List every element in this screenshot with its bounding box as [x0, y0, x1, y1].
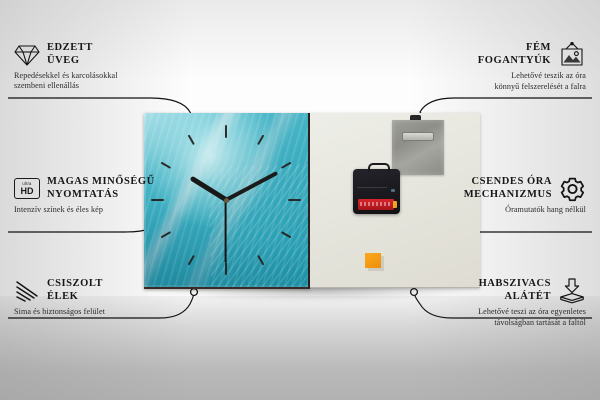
callout-tempered-glass: EDZETT ÜVEG Repedésekkel és karcolásokka…: [14, 42, 194, 92]
clock-center-cap: [224, 198, 229, 203]
quartz-movement: [353, 169, 400, 214]
metal-hanger-plate: [392, 120, 444, 175]
arrow-down-on-pad-icon: [558, 278, 586, 304]
callout-subtitle: Sima és biztonságos felület: [14, 304, 194, 318]
callout-subtitle: Óramutatók hang nélkül: [396, 202, 586, 216]
movement-label: [391, 189, 395, 192]
gear-icon: [559, 176, 586, 202]
movement-handle: [368, 163, 390, 173]
callout-header: HABSZIVACS ALÁTÉT: [391, 278, 586, 304]
callout-title: FÉM FOGANTYÚK: [478, 42, 551, 68]
callout-subtitle: Lehetővé teszi az óra egyenletes távolsá…: [391, 304, 586, 329]
callout-high-quality-print: ultra HD MAGAS MINŐSÉGŰ NYOMTATÁS Intenz…: [14, 176, 199, 215]
callout-title: HABSZIVACS ALÁTÉT: [479, 278, 551, 304]
diamond-icon: [14, 43, 40, 67]
ultra-hd-icon: ultra HD: [14, 178, 40, 199]
infographic-canvas: EDZETT ÜVEG Repedésekkel és karcolásokka…: [0, 0, 600, 400]
callout-polished-edges: CSISZOLT ÉLEK Sima és biztonságos felüle…: [14, 278, 194, 317]
clock-second-hand: [225, 200, 227, 262]
callout-metal-handles: FÉM FOGANTYÚK Lehetővé teszik az óra kön…: [396, 42, 586, 93]
foam-pad-sample: [365, 253, 381, 268]
callout-header: CSISZOLT ÉLEK: [14, 278, 194, 304]
callout-silent-mechanism: CSENDES ÓRA MECHANIZMUS Óramutatók hang …: [396, 176, 586, 216]
callout-header: CSENDES ÓRA MECHANIZMUS: [396, 176, 586, 202]
callout-subtitle: Intenzív színek és éles kép: [14, 202, 199, 216]
battery-label: [360, 202, 390, 206]
callout-foam-pad: HABSZIVACS ALÁTÉT Lehetővé teszi az óra …: [391, 278, 586, 329]
callout-header: ultra HD MAGAS MINŐSÉGŰ NYOMTATÁS: [14, 176, 199, 202]
movement-seam: [357, 187, 387, 188]
callout-title: CSISZOLT ÉLEK: [47, 278, 103, 304]
callout-header: EDZETT ÜVEG: [14, 42, 194, 68]
callout-title: CSENDES ÓRA MECHANIZMUS: [464, 176, 552, 202]
callout-subtitle: Repedésekkel és karcolásokkal szembeni e…: [14, 68, 194, 93]
callout-title: MAGAS MINŐSÉGŰ NYOMTATÁS: [47, 176, 155, 202]
battery: [358, 199, 394, 210]
callout-subtitle: Lehetővé teszik az óra könnyű felszerelé…: [396, 68, 586, 93]
callout-title: EDZETT ÜVEG: [47, 42, 93, 68]
polished-edges-icon: [14, 279, 40, 303]
framed-picture-hanging-icon: [558, 42, 586, 68]
callout-header: FÉM FOGANTYÚK: [396, 42, 586, 68]
